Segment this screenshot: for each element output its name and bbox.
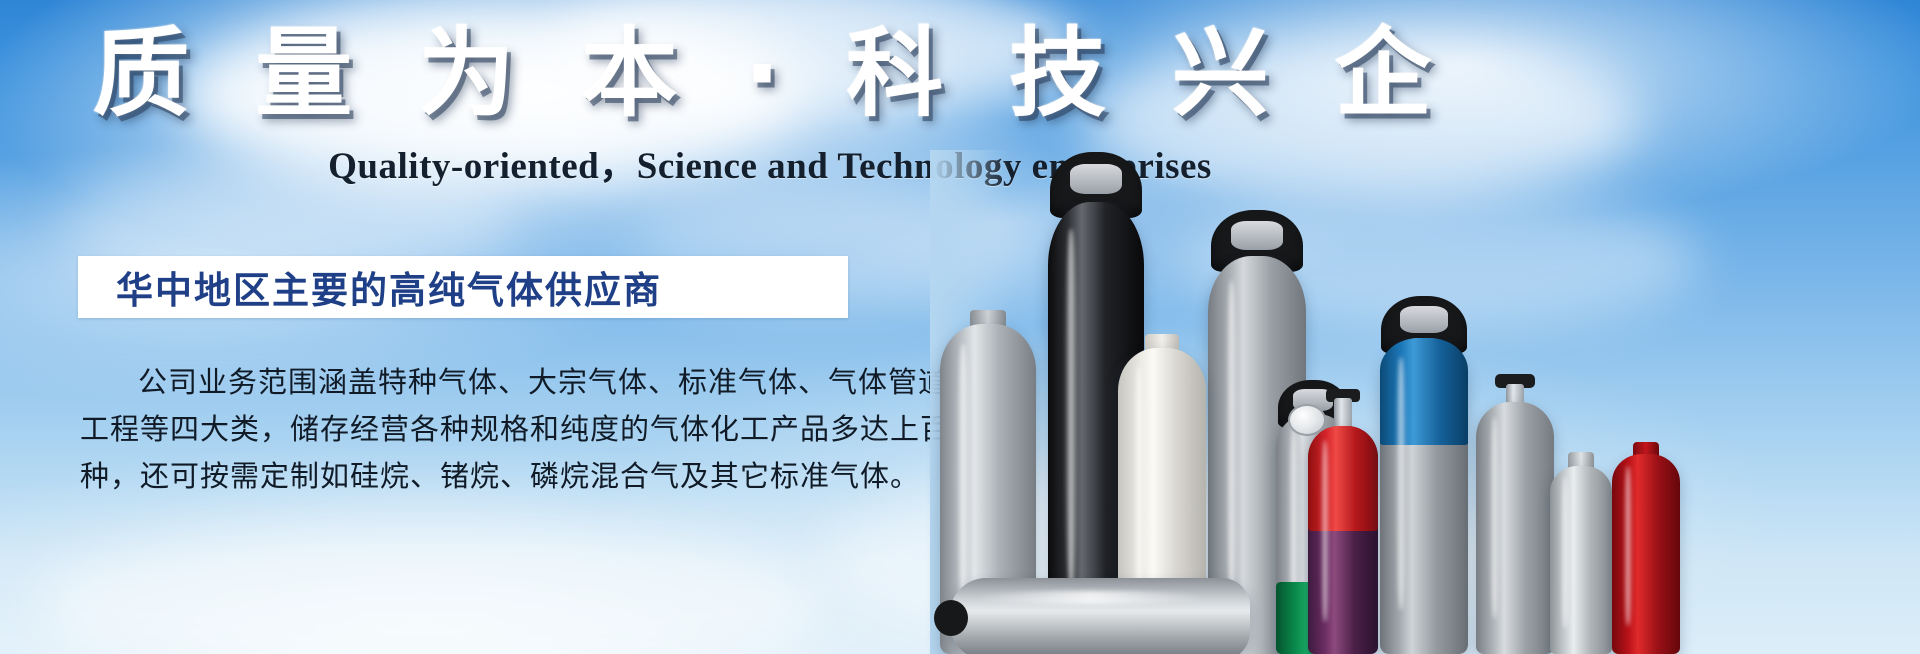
description-line-1-text: 公司业务范围涵盖特种气体、大宗气体、标准气体、气体管道 bbox=[138, 367, 948, 399]
cloud-wisp bbox=[40, 520, 820, 654]
description-line-1: 公司业务范围涵盖特种气体、大宗气体、标准气体、气体管道 bbox=[80, 360, 870, 407]
cylinder-blue-band bbox=[1380, 338, 1468, 445]
banner-headline: 质 量 为 本 · 科 技 兴 企 bbox=[0, 22, 1540, 127]
cylinder-red-shoulder bbox=[1308, 426, 1378, 531]
gloss-highlight bbox=[1561, 477, 1568, 627]
description-line-3: 种，还可按需定制如硅烷、锗烷、磷烷混合气及其它标准气体。 bbox=[80, 454, 870, 501]
description-line-2: 工程等四大类，储存经营各种规格和纯度的气体化工产品多达上百 bbox=[80, 407, 870, 454]
gas-cylinder-photo-group bbox=[940, 150, 1580, 654]
cylinder-body bbox=[1550, 466, 1612, 654]
tagline-text: 华中地区主要的高纯气体供应商 bbox=[78, 260, 662, 314]
lying-cylinder bbox=[950, 578, 1250, 654]
blue-band-cylinder bbox=[1380, 338, 1468, 654]
gloss-highlight bbox=[957, 344, 969, 608]
gloss-highlight bbox=[1065, 229, 1077, 591]
aluminium-cylinder bbox=[1550, 466, 1612, 654]
gloss-highlight bbox=[974, 591, 1208, 604]
cylinder-body bbox=[1380, 338, 1468, 654]
cylinder-end-cap bbox=[934, 600, 968, 636]
cylinder-body bbox=[1476, 402, 1554, 654]
deep-red-cylinder bbox=[1612, 454, 1680, 654]
gloss-highlight bbox=[1321, 440, 1329, 622]
cylinder-body bbox=[1308, 426, 1378, 654]
gloss-highlight bbox=[1226, 280, 1238, 598]
red-purple-cylinder bbox=[1308, 426, 1378, 654]
gloss-highlight bbox=[1490, 417, 1499, 619]
company-description: 公司业务范围涵盖特种气体、大宗气体、标准气体、气体管道 工程等四大类，储存经营各… bbox=[80, 360, 870, 501]
gloss-highlight bbox=[1624, 466, 1632, 626]
tagline-callout-box: 华中地区主要的高纯气体供应商 bbox=[78, 256, 848, 318]
cylinder-body bbox=[1612, 454, 1680, 654]
gray-cylinder-small bbox=[1476, 402, 1554, 654]
gloss-highlight bbox=[1134, 366, 1145, 611]
promotional-banner: 质 量 为 本 · 科 技 兴 企 Quality-oriented，Scien… bbox=[0, 0, 1920, 654]
